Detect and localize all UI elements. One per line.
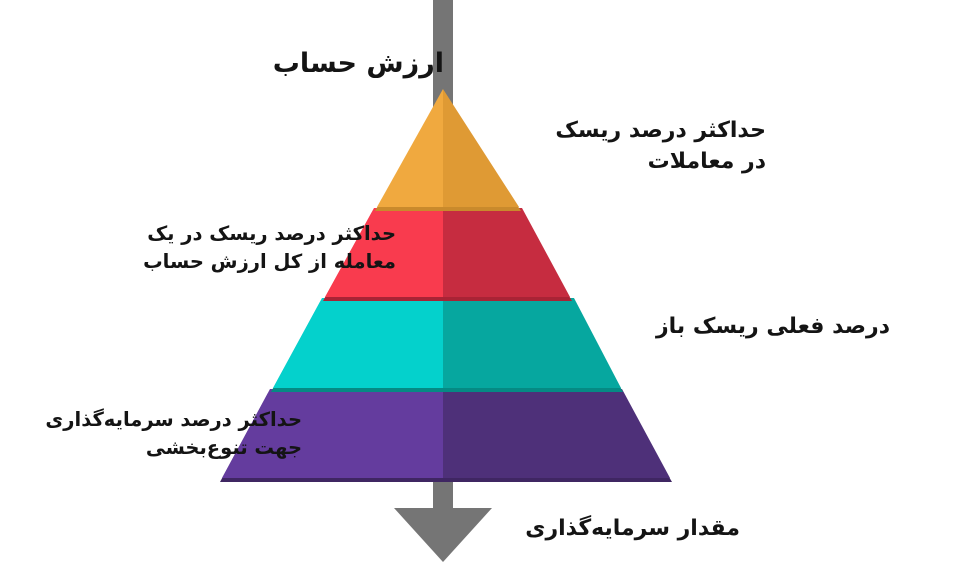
tier-3-right-face — [443, 298, 621, 388]
tier-4-label: حداکثر درصد سرمایه‌گذاری جهت تنوع‌بخشی — [8, 406, 302, 461]
tier-3-label: درصد فعلی ریسک باز — [600, 311, 890, 342]
tier-2-label: حداکثر درصد ریسک در یک معامله از کل ارزش… — [96, 220, 396, 275]
pyramid-diagram: ارزش حساب حداکثر درصد ریسک در معاملات حد… — [0, 0, 958, 581]
pyramid-graphic — [0, 0, 958, 581]
tier-2-right-face — [443, 208, 570, 297]
tier-1-label: حداکثر درصد ریسک در معاملات — [498, 115, 766, 177]
tier-1-left-face — [377, 89, 443, 207]
arrow-head — [394, 508, 492, 562]
bottom-axis-label: مقدار سرمایه‌گذاری — [490, 513, 740, 544]
tier-4-right-face — [443, 389, 670, 478]
tier-3-left-face — [273, 298, 443, 388]
top-axis-label: ارزش حساب — [238, 45, 444, 83]
